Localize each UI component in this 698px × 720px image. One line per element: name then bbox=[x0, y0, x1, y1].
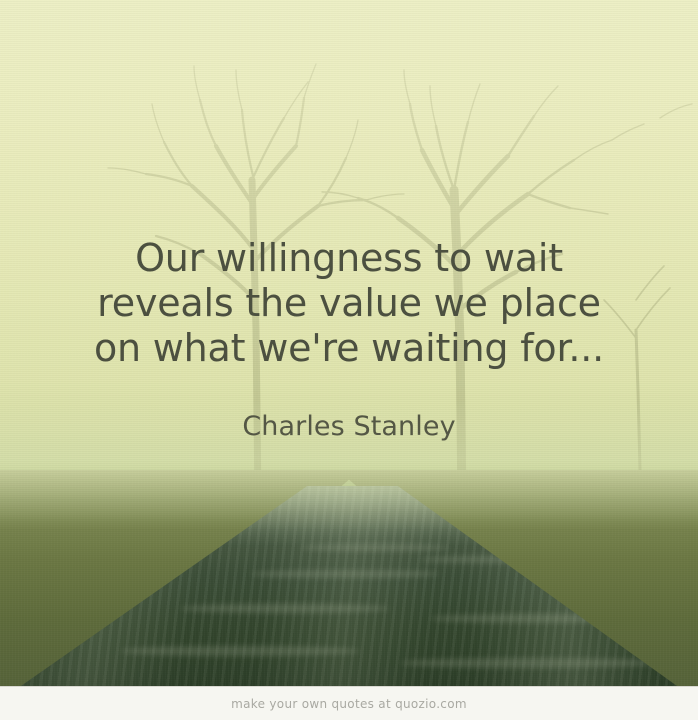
background-photo: Our willingness to wait reveals the valu… bbox=[0, 0, 698, 686]
quote-line-2: reveals the value we place bbox=[0, 281, 698, 326]
footer-bar: make your own quotes at quozio.com bbox=[0, 686, 698, 720]
quote-line-1: Our willingness to wait bbox=[0, 236, 698, 281]
quote-card: Our willingness to wait reveals the valu… bbox=[0, 0, 698, 720]
quote-line-3: on what we're waiting for... bbox=[0, 326, 698, 371]
road-streak bbox=[180, 604, 390, 613]
footer-attribution-text[interactable]: make your own quotes at quozio.com bbox=[231, 697, 467, 711]
road-streak bbox=[120, 646, 360, 656]
road-streak bbox=[300, 544, 450, 551]
quote-text: Our willingness to wait reveals the valu… bbox=[0, 236, 698, 371]
road-streak bbox=[400, 658, 660, 668]
road-streak bbox=[250, 570, 440, 578]
quote-author: Charles Stanley bbox=[0, 410, 698, 444]
